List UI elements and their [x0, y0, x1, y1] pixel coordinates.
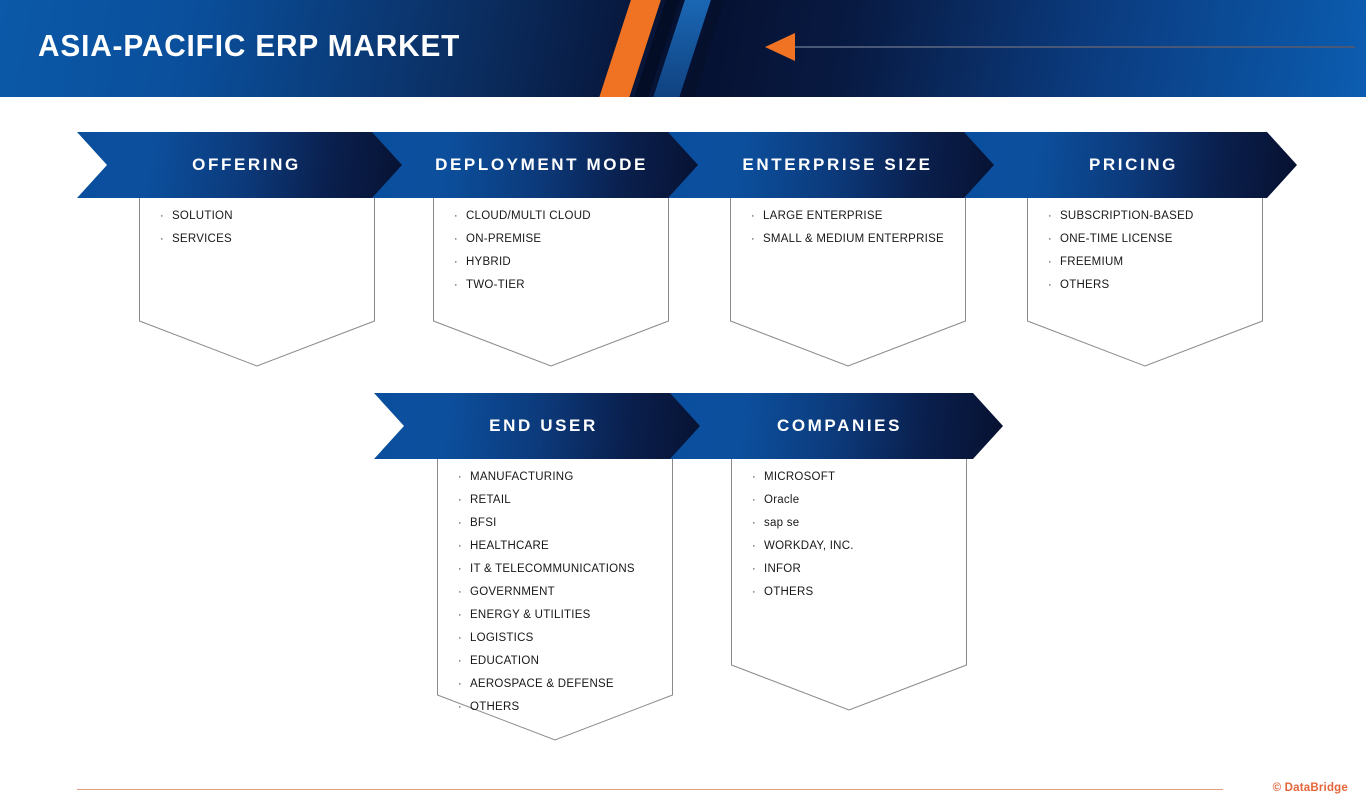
list-item[interactable]: ·BFSI — [458, 518, 673, 530]
list-item[interactable]: ·FREEMIUM — [1048, 257, 1263, 269]
segment-column-deployment-mode: DEPLOYMENT MODE·CLOUD/MULTI CLOUD·ON-PRE… — [372, 132, 705, 367]
bullet-icon: · — [458, 702, 470, 713]
segment-header-offering[interactable]: OFFERING — [77, 132, 410, 198]
segment-item-list-end-user: ·MANUFACTURING·RETAIL·BFSI·HEALTHCARE·IT… — [437, 459, 673, 714]
bullet-icon: · — [458, 518, 470, 529]
list-item-label: SUBSCRIPTION-BASED — [1060, 211, 1194, 223]
bullet-icon: · — [752, 518, 764, 529]
list-item-label: MANUFACTURING — [470, 472, 574, 484]
list-item-label: SMALL & MEDIUM ENTERPRISE — [763, 234, 944, 246]
list-item-label: OTHERS — [470, 702, 519, 714]
segment-column-pricing: PRICING·SUBSCRIPTION-BASED·ONE-TIME LICE… — [964, 132, 1297, 367]
list-item-label: OTHERS — [764, 587, 813, 599]
list-item-label: ONE-TIME LICENSE — [1060, 234, 1173, 246]
segment-title-deployment-mode: DEPLOYMENT MODE — [429, 155, 648, 175]
segment-title-enterprise-size: ENTERPRISE SIZE — [736, 155, 932, 175]
list-item[interactable]: ·ONE-TIME LICENSE — [1048, 234, 1263, 246]
bullet-icon: · — [752, 541, 764, 552]
segment-body-deployment-mode: ·CLOUD/MULTI CLOUD·ON-PREMISE·HYBRID·TWO… — [433, 198, 669, 367]
bullet-icon: · — [1048, 280, 1060, 291]
page-title: ASIA-PACIFIC ERP MARKET — [38, 28, 460, 64]
list-item[interactable]: ·ON-PREMISE — [454, 234, 669, 246]
segment-body-end-user: ·MANUFACTURING·RETAIL·BFSI·HEALTHCARE·IT… — [437, 459, 673, 741]
segment-header-companies[interactable]: COMPANIES — [670, 393, 1003, 459]
list-item[interactable]: ·MANUFACTURING — [458, 472, 673, 484]
footer-credit: © DataBridge — [1273, 782, 1348, 794]
list-item-label: SOLUTION — [172, 211, 233, 223]
list-item-label: GOVERNMENT — [470, 587, 555, 599]
bullet-icon: · — [1048, 234, 1060, 245]
bullet-icon: · — [458, 610, 470, 621]
list-item[interactable]: ·IT & TELECOMMUNICATIONS — [458, 564, 673, 576]
segment-item-list-deployment-mode: ·CLOUD/MULTI CLOUD·ON-PREMISE·HYBRID·TWO… — [433, 198, 669, 292]
segment-column-enterprise-size: ENTERPRISE SIZE·LARGE ENTERPRISE·SMALL &… — [668, 132, 1001, 367]
list-item[interactable]: ·GOVERNMENT — [458, 587, 673, 599]
list-item[interactable]: ·INFOR — [752, 564, 967, 576]
list-item-label: SERVICES — [172, 234, 232, 246]
list-item[interactable]: ·LOGISTICS — [458, 633, 673, 645]
segment-item-list-companies: ·MICROSOFT·Oracle·sap se·WORKDAY, INC.·I… — [731, 459, 967, 599]
segment-column-offering: OFFERING·SOLUTION·SERVICES — [77, 132, 410, 367]
segment-item-list-offering: ·SOLUTION·SERVICES — [139, 198, 375, 246]
list-item-label: EDUCATION — [470, 656, 539, 668]
list-item[interactable]: ·SMALL & MEDIUM ENTERPRISE — [751, 234, 966, 246]
list-item-label: WORKDAY, INC. — [764, 541, 854, 553]
list-item-label: AEROSPACE & DEFENSE — [470, 679, 614, 691]
list-item-label: LARGE ENTERPRISE — [763, 211, 883, 223]
list-item[interactable]: ·TWO-TIER — [454, 280, 669, 292]
bullet-icon: · — [752, 564, 764, 575]
bullet-icon: · — [458, 679, 470, 690]
segment-title-offering: OFFERING — [186, 155, 301, 175]
segment-item-list-enterprise-size: ·LARGE ENTERPRISE·SMALL & MEDIUM ENTERPR… — [730, 198, 966, 246]
list-item-label: IT & TELECOMMUNICATIONS — [470, 564, 635, 576]
list-item[interactable]: ·OTHERS — [752, 587, 967, 599]
bullet-icon: · — [458, 472, 470, 483]
segment-header-enterprise-size[interactable]: ENTERPRISE SIZE — [668, 132, 1001, 198]
segment-header-end-user[interactable]: END USER — [374, 393, 707, 459]
list-item[interactable]: ·sap se — [752, 518, 967, 530]
bullet-icon: · — [458, 564, 470, 575]
bullet-icon: · — [458, 656, 470, 667]
list-item-label: OTHERS — [1060, 280, 1109, 292]
list-item[interactable]: ·SERVICES — [160, 234, 375, 246]
segment-title-pricing: PRICING — [1083, 155, 1178, 175]
list-item-label: RETAIL — [470, 495, 511, 507]
bullet-icon: · — [1048, 257, 1060, 268]
bullet-icon: · — [458, 541, 470, 552]
list-item-label: INFOR — [764, 564, 801, 576]
list-item[interactable]: ·SOLUTION — [160, 211, 375, 223]
segment-title-companies: COMPANIES — [771, 416, 902, 436]
segment-body-pricing: ·SUBSCRIPTION-BASED·ONE-TIME LICENSE·FRE… — [1027, 198, 1263, 367]
list-item[interactable]: ·CLOUD/MULTI CLOUD — [454, 211, 669, 223]
list-item-label: ENERGY & UTILITIES — [470, 610, 591, 622]
list-item[interactable]: ·ENERGY & UTILITIES — [458, 610, 673, 622]
bullet-icon: · — [454, 280, 466, 291]
segment-column-end-user: END USER·MANUFACTURING·RETAIL·BFSI·HEALT… — [374, 393, 707, 741]
header-banner: ASIA-PACIFIC ERP MARKET — [0, 0, 1366, 97]
segment-title-end-user: END USER — [483, 416, 598, 436]
bullet-icon: · — [751, 211, 763, 222]
bullet-icon: · — [458, 495, 470, 506]
list-item[interactable]: ·AEROSPACE & DEFENSE — [458, 679, 673, 691]
list-item-label: HEALTHCARE — [470, 541, 549, 553]
bullet-icon: · — [454, 257, 466, 268]
list-item[interactable]: ·Oracle — [752, 495, 967, 507]
bullet-icon: · — [1048, 211, 1060, 222]
list-item[interactable]: ·MICROSOFT — [752, 472, 967, 484]
list-item[interactable]: ·RETAIL — [458, 495, 673, 507]
list-item-label: LOGISTICS — [470, 633, 534, 645]
list-item[interactable]: ·HYBRID — [454, 257, 669, 269]
bullet-icon: · — [160, 234, 172, 245]
left-arrow-icon — [765, 33, 795, 61]
list-item-label: ON-PREMISE — [466, 234, 541, 246]
list-item-label: BFSI — [470, 518, 497, 530]
list-item[interactable]: ·OTHERS — [1048, 280, 1263, 292]
list-item[interactable]: ·HEALTHCARE — [458, 541, 673, 553]
list-item-label: TWO-TIER — [466, 280, 525, 292]
segment-header-deployment-mode[interactable]: DEPLOYMENT MODE — [372, 132, 705, 198]
segment-header-pricing[interactable]: PRICING — [964, 132, 1297, 198]
list-item[interactable]: ·WORKDAY, INC. — [752, 541, 967, 553]
list-item-label: MICROSOFT — [764, 472, 835, 484]
bullet-icon: · — [751, 234, 763, 245]
bullet-icon: · — [454, 211, 466, 222]
list-item[interactable]: ·EDUCATION — [458, 656, 673, 668]
segment-column-companies: COMPANIES·MICROSOFT·Oracle·sap se·WORKDA… — [670, 393, 1003, 711]
bullet-icon: · — [458, 633, 470, 644]
bullet-icon: · — [160, 211, 172, 222]
segment-body-enterprise-size: ·LARGE ENTERPRISE·SMALL & MEDIUM ENTERPR… — [730, 198, 966, 367]
list-item-label: HYBRID — [466, 257, 511, 269]
bullet-icon: · — [752, 587, 764, 598]
list-item-label: sap se — [764, 518, 799, 530]
footer-divider — [77, 789, 1223, 790]
list-item[interactable]: ·OTHERS — [458, 702, 673, 714]
segment-body-offering: ·SOLUTION·SERVICES — [139, 198, 375, 367]
segment-item-list-pricing: ·SUBSCRIPTION-BASED·ONE-TIME LICENSE·FRE… — [1027, 198, 1263, 292]
bullet-icon: · — [454, 234, 466, 245]
list-item-label: CLOUD/MULTI CLOUD — [466, 211, 591, 223]
list-item[interactable]: ·SUBSCRIPTION-BASED — [1048, 211, 1263, 223]
list-item-label: FREEMIUM — [1060, 257, 1123, 269]
list-item[interactable]: ·LARGE ENTERPRISE — [751, 211, 966, 223]
list-item-label: Oracle — [764, 495, 799, 507]
header-arrow-line — [795, 46, 1355, 48]
bullet-icon: · — [752, 472, 764, 483]
bullet-icon: · — [752, 495, 764, 506]
segment-body-companies: ·MICROSOFT·Oracle·sap se·WORKDAY, INC.·I… — [731, 459, 967, 711]
bullet-icon: · — [458, 587, 470, 598]
